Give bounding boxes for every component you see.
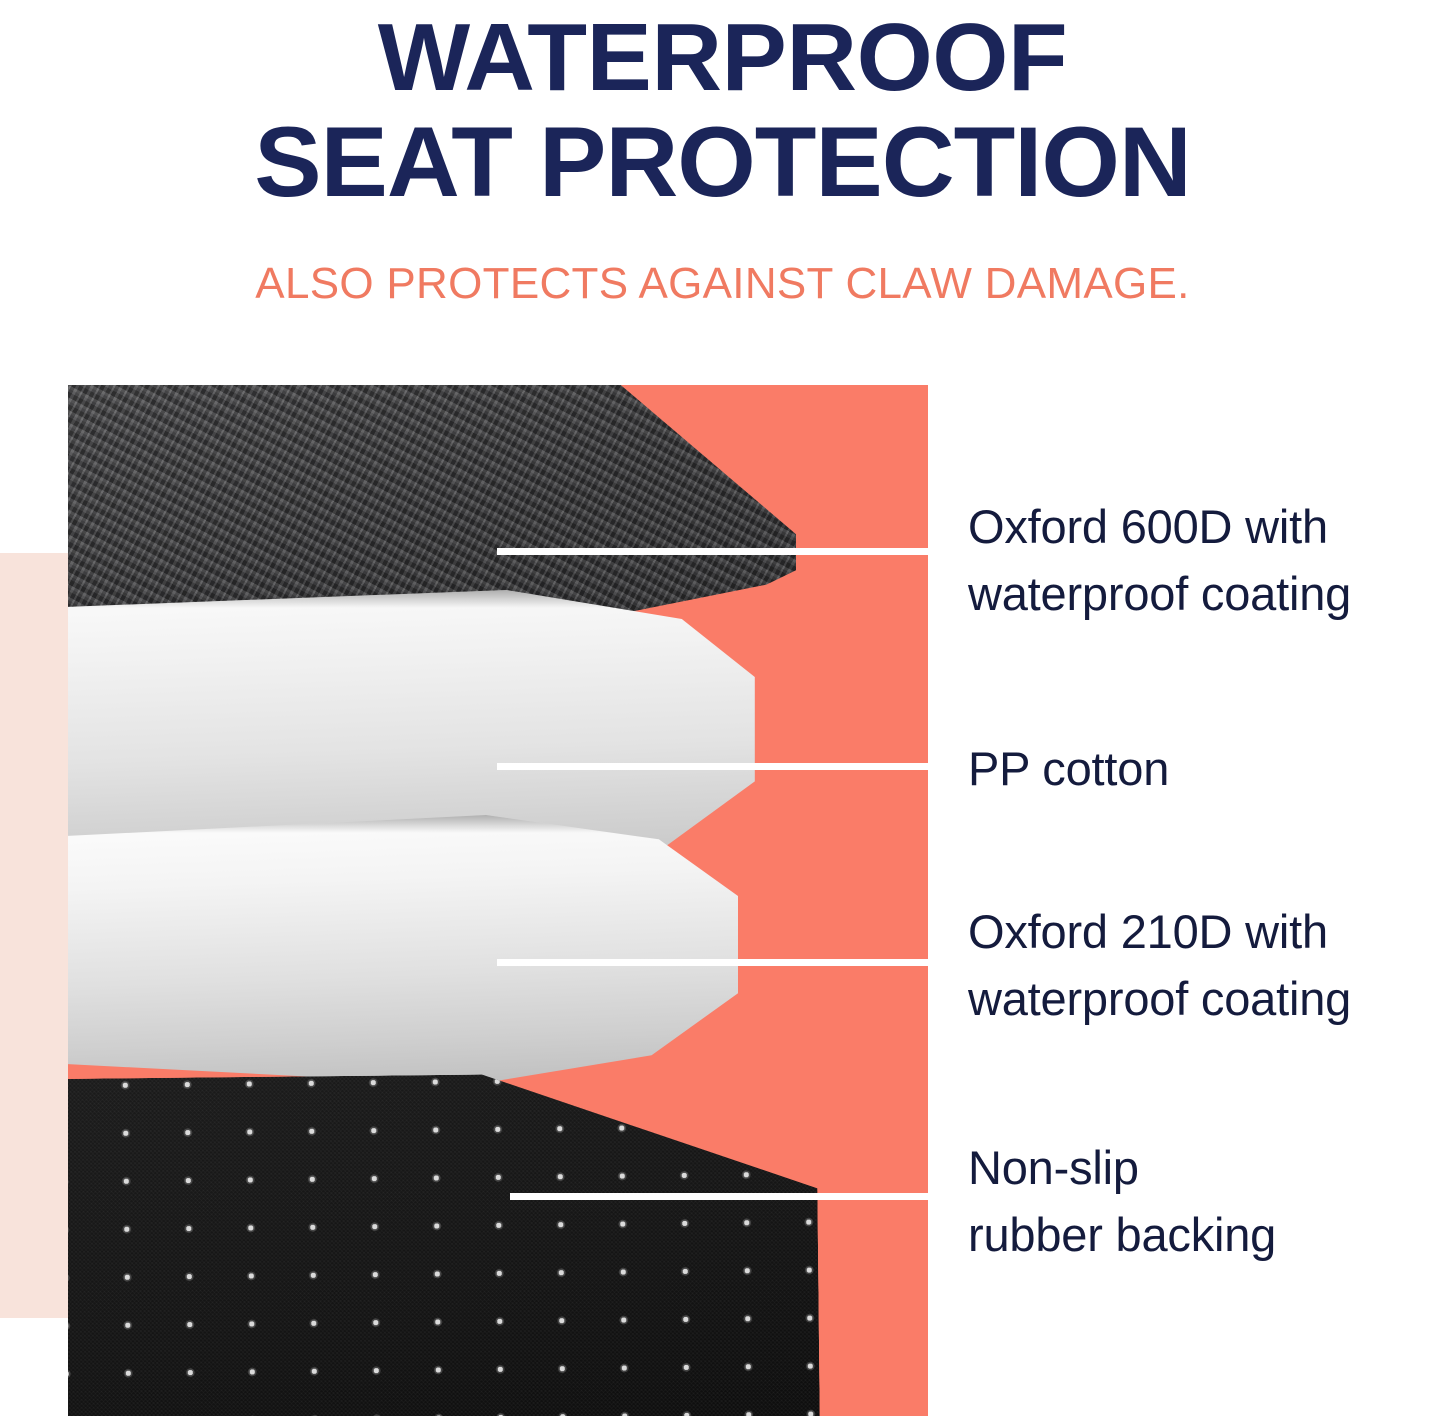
label-line-1: PP cotton [968, 735, 1445, 802]
layer-non-slip-rubber [68, 1071, 820, 1416]
material-layers-panel [68, 385, 928, 1416]
headline-block: WATERPROOF SEAT PROTECTION [0, 0, 1445, 214]
leader-line-oxford-210d [497, 959, 928, 966]
leader-line-oxford-600d [497, 548, 928, 555]
label-oxford-210d: Oxford 210D with waterproof coating [968, 898, 1445, 1032]
label-line-2: waterproof coating [968, 560, 1445, 627]
label-line-2: waterproof coating [968, 965, 1445, 1032]
label-line-2: rubber backing [968, 1201, 1445, 1268]
material-layers-stack [68, 385, 928, 1416]
label-pp-cotton: PP cotton [968, 735, 1445, 802]
leader-line-non-slip-rubber [510, 1193, 928, 1200]
accent-strip [0, 553, 70, 1318]
label-line-1: Oxford 600D with [968, 493, 1445, 560]
headline-line-1: WATERPROOF [0, 0, 1445, 110]
label-non-slip-rubber: Non-slip rubber backing [968, 1134, 1445, 1268]
headline-line-2: SEAT PROTECTION [0, 110, 1445, 214]
infographic-root: WATERPROOF SEAT PROTECTION ALSO PROTECTS… [0, 0, 1445, 1416]
leader-line-pp-cotton [497, 763, 928, 770]
label-oxford-600d: Oxford 600D with waterproof coating [968, 493, 1445, 627]
layer-oxford-210d [68, 815, 774, 1085]
label-line-1: Oxford 210D with [968, 898, 1445, 965]
label-line-1: Non-slip [968, 1134, 1445, 1201]
subheadline: ALSO PROTECTS AGAINST CLAW DAMAGE. [0, 258, 1445, 310]
